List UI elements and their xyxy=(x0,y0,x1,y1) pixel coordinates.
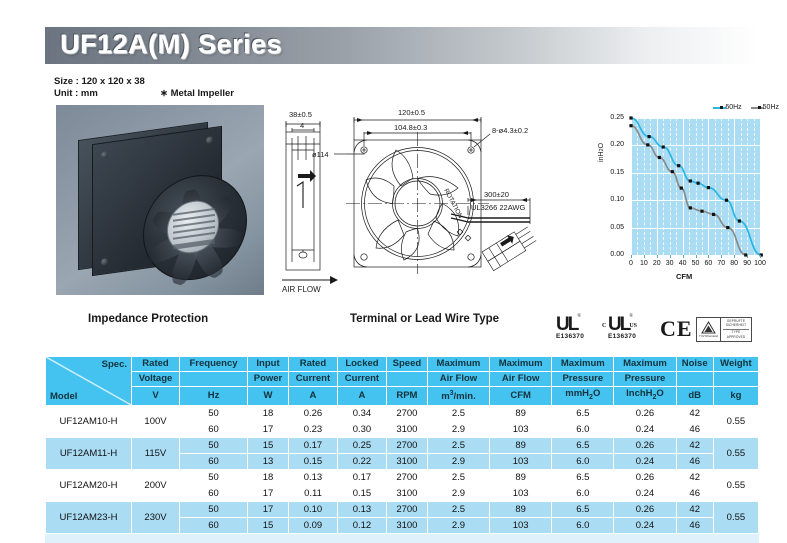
cell-pressure-inch: 0.26 xyxy=(614,501,676,517)
header-spec-label: Spec. xyxy=(102,358,127,372)
cell-noise: 46 xyxy=(676,453,713,469)
cell-airflow-m3: 2.5 xyxy=(427,469,489,485)
fan-screw-icon xyxy=(101,151,108,159)
chart-x-tick xyxy=(670,255,671,258)
cell-input-power: 17 xyxy=(248,501,289,517)
cell-frequency: 50 xyxy=(180,469,248,485)
caption-terminal-type: Terminal or Lead Wire Type xyxy=(350,313,499,325)
chart-plot-area xyxy=(631,118,760,255)
chart-y-tick-label: 0.10 xyxy=(602,196,624,203)
chart-gridline-vertical xyxy=(760,118,761,255)
chart-gridline-vertical xyxy=(747,118,748,255)
table-header-row-3: V Hz W A A RPM m3/min. CFM mmH2O InchH2O… xyxy=(46,387,759,406)
chart-x-tick xyxy=(696,255,697,258)
dim-lead-label: 300±20 xyxy=(484,190,509,199)
chart-x-tick xyxy=(760,255,761,258)
hub-text-line xyxy=(173,232,215,240)
header-frequency-unit: Hz xyxy=(180,387,248,406)
legend-item-60hz: 60Hz xyxy=(713,104,741,111)
header-pressure-mm-l1: Maximum xyxy=(552,357,614,372)
size-label: Size : 120 x 120 x 38 xyxy=(54,76,145,88)
chart-gridline-vertical-minor xyxy=(702,118,703,255)
legend-label-50hz: 50Hz xyxy=(763,104,779,111)
header-pressure-inch-l1: Maximum xyxy=(614,357,676,372)
header-rated-voltage-l2: Voltage xyxy=(132,372,180,387)
tuv-text-panel: GEPRUFTE SICHERHEIT TYPE APPROVED xyxy=(721,318,751,341)
cul-suffix: US xyxy=(629,323,637,329)
chart-x-tick-label: 80 xyxy=(727,260,741,267)
cell-rated-current: 0.13 xyxy=(288,469,337,485)
header-frequency-l1: Frequency xyxy=(180,357,248,372)
size-info-block: Size : 120 x 120 x 38 Unit : mm xyxy=(54,76,145,100)
cell-weight: 0.55 xyxy=(713,469,758,501)
table-footer-bar xyxy=(45,534,759,543)
cell-rated-current: 0.10 xyxy=(288,501,337,517)
cul-registered-icon: ® xyxy=(629,314,633,319)
chart-gridline-vertical xyxy=(721,118,722,255)
table-body: UF12AM10-H100V50180.260.3427002.5896.50.… xyxy=(46,405,759,533)
chart-x-tick xyxy=(644,255,645,258)
cell-speed: 2700 xyxy=(386,437,427,453)
cell-locked-current: 0.17 xyxy=(337,469,386,485)
fan-product-photo xyxy=(56,105,264,295)
cell-pressure-mm: 6.5 xyxy=(552,437,614,453)
cell-locked-current: 0.15 xyxy=(337,485,386,501)
cell-noise: 46 xyxy=(676,485,713,501)
chart-x-tick-label: 100 xyxy=(753,260,767,267)
header-airflow-m3-l2: Air Flow xyxy=(427,372,489,387)
chart-gridline-vertical-minor xyxy=(689,118,690,255)
chart-x-axis-title: CFM xyxy=(676,272,692,281)
legend-label-60hz: 60Hz xyxy=(725,104,741,111)
cell-model: UF12AM20-H xyxy=(46,469,132,501)
cell-pressure-inch: 0.24 xyxy=(614,421,676,437)
cell-input-power: 15 xyxy=(248,517,289,533)
chart-gridline-horizontal xyxy=(631,200,760,201)
cell-rated-voltage: 100V xyxy=(132,405,180,437)
pressure-airflow-chart: 60Hz 50Hz inH2O CFM 01020304050607080901… xyxy=(600,104,787,286)
chart-gridline-vertical xyxy=(631,118,632,255)
cell-airflow-cfm: 89 xyxy=(490,469,552,485)
chart-gridline-horizontal xyxy=(631,228,760,229)
cell-pressure-inch: 0.26 xyxy=(614,405,676,421)
header-pressure-mm-unit: mmH2O xyxy=(552,387,614,406)
cell-airflow-m3: 2.9 xyxy=(427,517,489,533)
legend-marker-60hz xyxy=(720,106,723,109)
header-input-power-l1: Input xyxy=(248,357,289,372)
cul-prefix: C xyxy=(602,323,606,329)
chart-x-tick-label: 90 xyxy=(740,260,754,267)
chart-gridline-vertical-minor xyxy=(728,118,729,255)
tuv-mark: TÜV Rheinland GEPRUFTE SICHERHEIT TYPE A… xyxy=(696,317,752,342)
cell-rated-current: 0.26 xyxy=(288,405,337,421)
chart-gridline-vertical-minor xyxy=(741,118,742,255)
cell-rated-current: 0.09 xyxy=(288,517,337,533)
cell-pressure-inch: 0.24 xyxy=(614,453,676,469)
chart-x-tick-label: 70 xyxy=(714,260,728,267)
chart-x-tick-label: 0 xyxy=(624,260,638,267)
header-frequency-l2 xyxy=(180,372,248,387)
chart-x-tick xyxy=(708,255,709,258)
chart-gridline-vertical xyxy=(696,118,697,255)
cell-input-power: 13 xyxy=(248,453,289,469)
cell-locked-current: 0.34 xyxy=(337,405,386,421)
chart-x-tick-label: 30 xyxy=(663,260,677,267)
header-airflow-cfm-l1: Maximum xyxy=(490,357,552,372)
header-rated-voltage-unit: V xyxy=(132,387,180,406)
cell-rated-current: 0.17 xyxy=(288,437,337,453)
ul-registered-icon: ® xyxy=(577,314,581,319)
header-noise-l1: Noise xyxy=(676,357,713,372)
chart-gridline-horizontal xyxy=(631,145,760,146)
dim-bore-label: ø114 xyxy=(312,150,329,159)
header-input-power-l2: Power xyxy=(248,372,289,387)
header-rated-current-l2: Current xyxy=(288,372,337,387)
cell-pressure-inch: 0.26 xyxy=(614,469,676,485)
chart-x-tick xyxy=(734,255,735,258)
fan-screw-icon xyxy=(206,136,213,144)
ul-glyph: UL xyxy=(556,314,577,335)
cell-locked-current: 0.30 xyxy=(337,421,386,437)
header-speed-l2 xyxy=(386,372,427,387)
cell-airflow-m3: 2.9 xyxy=(427,421,489,437)
cell-pressure-inch: 0.26 xyxy=(614,437,676,453)
fan-front-frame xyxy=(92,126,222,276)
cell-frequency: 50 xyxy=(180,437,248,453)
cell-frequency: 50 xyxy=(180,405,248,421)
chart-gridline-vertical xyxy=(734,118,735,255)
chart-y-tick-label: 0.00 xyxy=(602,251,624,258)
table-row: UF12AM23-H230V50170.100.1327002.5896.50.… xyxy=(46,501,759,517)
cell-pressure-mm: 6.5 xyxy=(552,405,614,421)
header-noise-l2 xyxy=(676,372,713,387)
header-pressure-inch-unit: InchH2O xyxy=(614,387,676,406)
cell-pressure-inch: 0.24 xyxy=(614,517,676,533)
cell-rated-voltage: 230V xyxy=(132,501,180,533)
cell-frequency: 50 xyxy=(180,501,248,517)
cell-rated-voltage: 200V xyxy=(132,469,180,501)
cell-weight: 0.55 xyxy=(713,437,758,469)
header-rated-current-l1: Rated xyxy=(288,357,337,372)
legend-item-50hz: 50Hz xyxy=(751,104,779,111)
header-weight-l2 xyxy=(713,372,758,387)
cell-airflow-cfm: 89 xyxy=(490,405,552,421)
header-corner-spec-model: Spec. Model xyxy=(46,357,132,406)
cell-weight: 0.55 xyxy=(713,501,758,533)
drawing-svg: 38±0.5 4 120±0.5 104.8±0.3 ø114 8-ø4.3±0… xyxy=(268,102,560,294)
header-locked-current-unit: A xyxy=(337,387,386,406)
chart-x-tick-label: 20 xyxy=(650,260,664,267)
cell-airflow-cfm: 89 xyxy=(490,437,552,453)
cell-rated-current: 0.23 xyxy=(288,421,337,437)
table-header: Spec. Model Rated Frequency Input Rated … xyxy=(46,357,759,406)
table-row: UF12AM11-H115V50150.170.2527002.5896.50.… xyxy=(46,437,759,453)
chart-gridline-vertical-minor xyxy=(637,118,638,255)
cell-speed: 3100 xyxy=(386,453,427,469)
cell-pressure-mm: 6.5 xyxy=(552,501,614,517)
header-speed-unit: RPM xyxy=(386,387,427,406)
cell-weight: 0.55 xyxy=(713,405,758,437)
cell-airflow-m3: 2.9 xyxy=(427,485,489,501)
cell-noise: 42 xyxy=(676,469,713,485)
cell-noise: 42 xyxy=(676,405,713,421)
table-row: UF12AM20-H200V50180.130.1727002.5896.50.… xyxy=(46,469,759,485)
cell-locked-current: 0.22 xyxy=(337,453,386,469)
cell-frequency: 60 xyxy=(180,453,248,469)
ul-mark: UL ® E136370 xyxy=(556,314,584,340)
cell-airflow-m3: 2.5 xyxy=(427,501,489,517)
cell-input-power: 17 xyxy=(248,421,289,437)
chart-gridline-horizontal xyxy=(631,173,760,174)
cell-frequency: 60 xyxy=(180,485,248,501)
header-locked-current-l2: Current xyxy=(337,372,386,387)
chart-x-tick xyxy=(683,255,684,258)
cell-noise: 46 xyxy=(676,421,713,437)
chart-legend: 60Hz 50Hz xyxy=(713,104,779,111)
header-noise-unit: dB xyxy=(676,387,713,406)
chart-gridline-vertical-minor xyxy=(715,118,716,255)
cell-noise: 46 xyxy=(676,517,713,533)
cell-rated-current: 0.15 xyxy=(288,453,337,469)
ce-mark: CE xyxy=(660,316,693,342)
cell-locked-current: 0.13 xyxy=(337,501,386,517)
page-title: UF12A(M) Series xyxy=(60,29,282,60)
cell-model: UF12AM23-H xyxy=(46,501,132,533)
cell-frequency: 60 xyxy=(180,421,248,437)
header-airflow-m3-l1: Maximum xyxy=(427,357,489,372)
cell-input-power: 18 xyxy=(248,469,289,485)
cell-input-power: 17 xyxy=(248,485,289,501)
cell-rated-current: 0.11 xyxy=(288,485,337,501)
header-rated-voltage-l1: Rated xyxy=(132,357,180,372)
cell-airflow-cfm: 89 xyxy=(490,501,552,517)
header-airflow-cfm-unit: CFM xyxy=(490,387,552,406)
cell-airflow-cfm: 103 xyxy=(490,421,552,437)
header-airflow-m3-unit: m3/min. xyxy=(427,387,489,406)
header-pressure-mm-l2: Pressure xyxy=(552,372,614,387)
tuv-triangle-svg xyxy=(701,321,716,334)
header-airflow-cfm-l2: Air Flow xyxy=(490,372,552,387)
chart-gridline-vertical xyxy=(644,118,645,255)
table-header-row: Spec. Model Rated Frequency Input Rated … xyxy=(46,357,759,372)
cell-speed: 2700 xyxy=(386,501,427,517)
chart-x-tick-label: 60 xyxy=(701,260,715,267)
chart-x-tick xyxy=(631,255,632,258)
cell-model: UF12AM11-H xyxy=(46,437,132,469)
header-rated-current-unit: A xyxy=(288,387,337,406)
unit-label: Unit : mm xyxy=(54,88,145,100)
cell-airflow-cfm: 103 xyxy=(490,517,552,533)
chart-gridline-vertical-minor xyxy=(663,118,664,255)
dim-holes-label: 8-ø4.3±0.2 xyxy=(492,126,528,135)
chart-x-tick-label: 50 xyxy=(689,260,703,267)
fan-screw-icon xyxy=(101,258,108,266)
header-input-power-unit: W xyxy=(248,387,289,406)
chart-x-tick-label: 40 xyxy=(676,260,690,267)
cell-locked-current: 0.25 xyxy=(337,437,386,453)
chart-x-tick xyxy=(747,255,748,258)
tuv-brand-label: TÜV Rheinland xyxy=(699,334,718,338)
cell-airflow-m3: 2.5 xyxy=(427,405,489,421)
tuv-triangle-icon: TÜV Rheinland xyxy=(697,318,721,341)
chart-x-tick-label: 10 xyxy=(637,260,651,267)
cell-airflow-cfm: 103 xyxy=(490,485,552,501)
cell-input-power: 18 xyxy=(248,405,289,421)
cell-noise: 42 xyxy=(676,501,713,517)
chart-x-tick xyxy=(657,255,658,258)
header-weight-unit: kg xyxy=(713,387,758,406)
technical-drawing: 38±0.5 4 120±0.5 104.8±0.3 ø114 8-ø4.3±0… xyxy=(268,102,560,294)
specification-table: Spec. Model Rated Frequency Input Rated … xyxy=(45,356,759,534)
cell-speed: 3100 xyxy=(386,517,427,533)
cell-noise: 42 xyxy=(676,437,713,453)
cul-mark: C UL ® US E136370 xyxy=(608,314,636,340)
chart-gridline-horizontal xyxy=(631,118,760,119)
cell-airflow-cfm: 103 xyxy=(490,453,552,469)
cell-input-power: 15 xyxy=(248,437,289,453)
chart-y-tick-label: 0.05 xyxy=(602,224,624,231)
cell-pressure-inch: 0.24 xyxy=(614,485,676,501)
chart-gridline-vertical xyxy=(670,118,671,255)
cell-pressure-mm: 6.0 xyxy=(552,517,614,533)
cell-pressure-mm: 6.0 xyxy=(552,421,614,437)
chart-gridline-vertical xyxy=(657,118,658,255)
legend-marker-50hz xyxy=(758,106,761,109)
header-model-label: Model xyxy=(50,390,77,404)
metal-impeller-note: ∗ Metal Impeller xyxy=(160,88,234,99)
header-pressure-inch-l2: Pressure xyxy=(614,372,676,387)
tuv-line-2: SICHERHEIT xyxy=(726,324,746,328)
header-speed-l1: Speed xyxy=(386,357,427,372)
chart-gridline-vertical xyxy=(683,118,684,255)
chart-gridline-vertical-minor xyxy=(650,118,651,255)
cell-airflow-m3: 2.9 xyxy=(427,453,489,469)
chart-gridline-vertical-minor xyxy=(676,118,677,255)
chart-y-tick-label: 0.20 xyxy=(602,141,624,148)
cell-pressure-mm: 6.5 xyxy=(552,469,614,485)
chart-y-tick-label: 0.15 xyxy=(602,169,624,176)
cell-locked-current: 0.12 xyxy=(337,517,386,533)
cell-frequency: 60 xyxy=(180,517,248,533)
dim-flange-label: 4 xyxy=(300,121,304,130)
tuv-line-4: APPROVED xyxy=(727,336,746,340)
table-row: UF12AM10-H100V50180.260.3427002.5896.50.… xyxy=(46,405,759,421)
cell-model: UF12AM10-H xyxy=(46,405,132,437)
airflow-label: AIR FLOW xyxy=(282,285,321,294)
chart-gridline-vertical xyxy=(708,118,709,255)
certification-marks: UL ® E136370 C UL ® US E136370 CE TÜV Rh… xyxy=(556,314,766,348)
dim-depth-label: 38±0.5 xyxy=(289,110,312,119)
header-locked-current-l1: Locked xyxy=(337,357,386,372)
cell-airflow-m3: 2.5 xyxy=(427,437,489,453)
cell-pressure-mm: 6.0 xyxy=(552,485,614,501)
cell-speed: 3100 xyxy=(386,421,427,437)
table-header-row-2: Voltage Power Current Current Air Flow A… xyxy=(46,372,759,387)
chart-x-tick xyxy=(721,255,722,258)
caption-impedance-protection: Impedance Protection xyxy=(88,313,208,325)
dim-width-label: 120±0.5 xyxy=(398,108,425,117)
cul-glyph: UL xyxy=(608,314,629,335)
cell-speed: 2700 xyxy=(386,405,427,421)
cell-speed: 2700 xyxy=(386,469,427,485)
chart-y-tick-label: 0.25 xyxy=(602,114,624,121)
cell-speed: 3100 xyxy=(386,485,427,501)
chart-gridline-vertical-minor xyxy=(754,118,755,255)
header-weight-l1: Weight xyxy=(713,357,758,372)
cell-pressure-mm: 6.0 xyxy=(552,453,614,469)
cell-rated-voltage: 115V xyxy=(132,437,180,469)
dim-hole-pitch-label: 104.8±0.3 xyxy=(394,123,427,132)
wire-spec-label: UL3266 22AWG xyxy=(471,203,526,212)
